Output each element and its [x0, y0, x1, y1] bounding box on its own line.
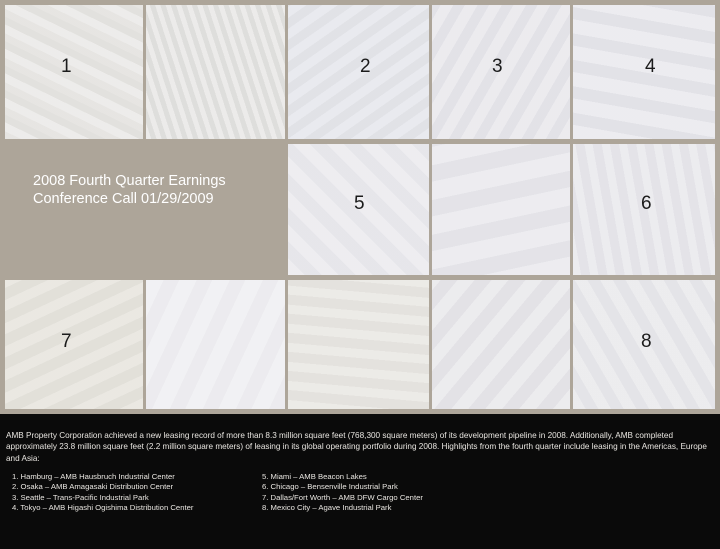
mosaic-number-8: 8	[641, 332, 652, 351]
mosaic-number-1: 1	[61, 57, 72, 76]
list-item: 2. Osaka – AMB Amagasaki Distribution Ce…	[12, 482, 262, 492]
mosaic-cell-cargo-netting[interactable]	[143, 275, 285, 414]
mosaic-cell-3[interactable]: 3	[429, 0, 570, 139]
mosaic-cell-4[interactable]: 4	[570, 0, 720, 139]
photo-aerial-port-with-ships	[432, 280, 570, 409]
mosaic-number-2: 2	[360, 57, 371, 76]
earnings-call-slide: 1 2 3 4 2008 Fourth Quarter Earnings Con…	[0, 0, 720, 549]
mosaic-cell-crane-detail[interactable]	[143, 0, 285, 139]
mosaic-cell-8[interactable]: 8	[570, 275, 720, 414]
photo-crane-and-warehouse-roof-detail	[146, 5, 285, 139]
photo-aerial-waterfront-distribution-center-osaka	[288, 5, 429, 139]
photo-warehouse-interior-racking	[288, 280, 429, 409]
mosaic-number-4: 4	[645, 57, 656, 76]
highlights-list-left: 1. Hamburg – AMB Hausbruch Industrial Ce…	[12, 472, 262, 514]
photo-aerial-air-cargo-center-dfw	[5, 280, 143, 409]
list-item: 8. Mexico City – Agave Industrial Park	[262, 503, 592, 513]
intro-paragraph: AMB Property Corporation achieved a new …	[6, 430, 714, 464]
mosaic-number-3: 3	[492, 57, 503, 76]
text-panel: AMB Property Corporation achieved a new …	[0, 414, 720, 549]
photo-cargo-netting-closeup	[146, 280, 285, 409]
mosaic-cell-port-ships[interactable]	[429, 275, 570, 414]
mosaic-cell-6[interactable]: 6	[570, 139, 720, 275]
photo-container-crane-lifting-container	[432, 144, 570, 275]
list-item: 5. Miami – AMB Beacon Lakes	[262, 472, 592, 482]
mosaic-cell-7[interactable]: 7	[0, 275, 143, 414]
highlights-list-right: 5. Miami – AMB Beacon Lakes 6. Chicago –…	[262, 472, 592, 514]
list-item: 6. Chicago – Bensenville Industrial Park	[262, 482, 592, 492]
list-item: 4. Tokyo – AMB Higashi Ogishima Distribu…	[12, 503, 262, 513]
list-item: 7. Dallas/Fort Worth – AMB DFW Cargo Cen…	[262, 493, 592, 503]
photo-ground-level-distribution-building-tokyo	[573, 5, 715, 139]
list-item: 3. Seattle – Trans-Pacific Industrial Pa…	[12, 493, 262, 503]
title-block: 2008 Fourth Quarter Earnings Conference …	[0, 139, 285, 275]
mosaic-cell-1[interactable]: 1	[0, 0, 143, 139]
photo-mosaic: 1 2 3 4 2008 Fourth Quarter Earnings Con…	[0, 0, 720, 414]
mosaic-cell-container-crane[interactable]	[429, 139, 570, 275]
mosaic-number-7: 7	[61, 332, 72, 351]
list-item: 1. Hamburg – AMB Hausbruch Industrial Ce…	[12, 472, 262, 482]
mosaic-number-6: 6	[641, 194, 652, 213]
highlights-lists: 1. Hamburg – AMB Hausbruch Industrial Ce…	[6, 472, 714, 514]
page-title: 2008 Fourth Quarter Earnings Conference …	[33, 173, 226, 208]
mosaic-cell-2[interactable]: 2	[285, 0, 429, 139]
photo-aerial-industrial-park-hamburg	[5, 5, 143, 139]
mosaic-cell-5[interactable]: 5	[285, 139, 429, 275]
mosaic-cell-warehouse-interior[interactable]	[285, 275, 429, 414]
mosaic-number-5: 5	[354, 194, 365, 213]
